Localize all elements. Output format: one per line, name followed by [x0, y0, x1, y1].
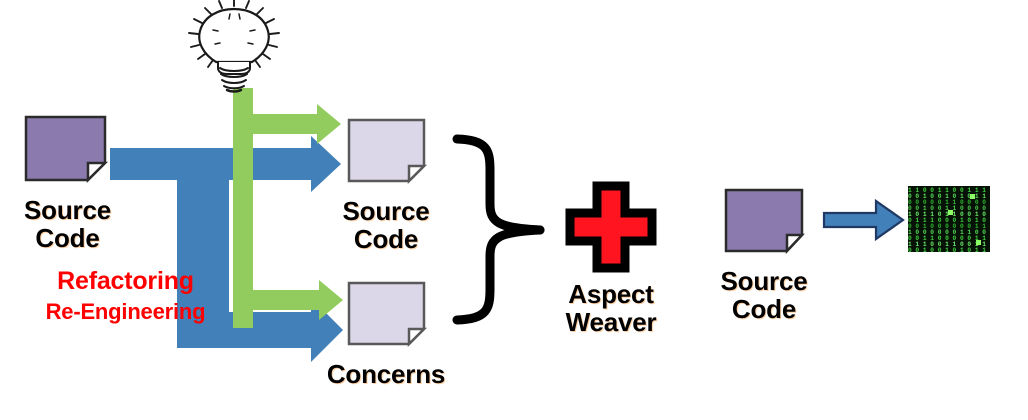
- light-bulb-icon: [189, 0, 279, 92]
- diagram-canvas: 1 1 0 0 1 1 0 0 1 1 1 0 0 1 0 0 0 0 0 0 …: [0, 0, 1028, 420]
- label-woven-source-code: Source Code: [700, 267, 828, 323]
- label-output-source-code: Source Code: [322, 197, 450, 253]
- document-purple-woven: [726, 190, 802, 251]
- red-plus-icon: [570, 186, 652, 268]
- document-lavender-concerns: [349, 283, 424, 344]
- label-aspect-weaver: Aspect Weaver: [548, 280, 674, 336]
- document-purple-input: [26, 117, 105, 180]
- document-lavender-source-code: [349, 120, 424, 181]
- label-output-concerns: Concerns: [318, 360, 454, 388]
- label-refactoring: Refactoring: [18, 268, 233, 295]
- blue-compile-arrow: [824, 201, 903, 239]
- binary-code-image: 1 1 0 0 1 1 0 0 1 1 1 0 0 1 0 0 0 0 0 0 …: [908, 186, 990, 252]
- blue-t-split-arrow: [110, 136, 343, 362]
- label-input-source-code: Source Code: [0, 196, 135, 252]
- svg-text:0 0 1 0 0 1 0 1 0 1 1 0 0 1 0: 0 0 1 0 0 1 0 1 0 1 1 0 0 1 0 1 0 0 1 1: [908, 247, 990, 252]
- curly-brace-right: [457, 139, 540, 320]
- diagram-shapes: [0, 0, 1028, 420]
- label-re-engineering: Re-Engineering: [14, 300, 237, 324]
